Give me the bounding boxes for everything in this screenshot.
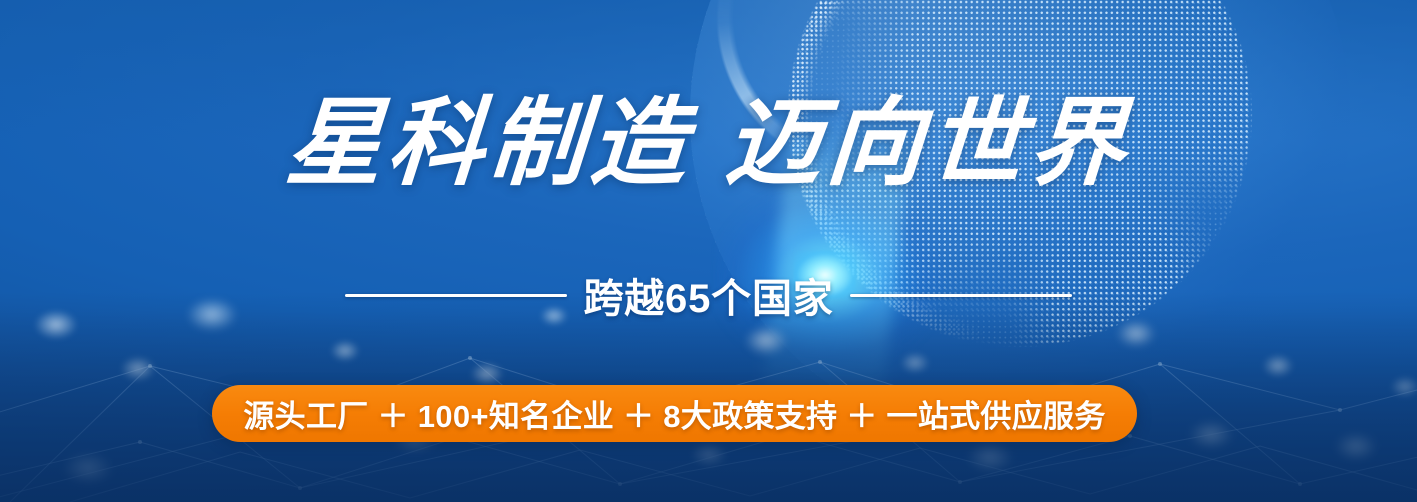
subtitle-row: 跨越65个国家 xyxy=(0,266,1417,324)
headline-part-two: 迈向世界 xyxy=(722,90,1135,197)
divider-left xyxy=(345,294,567,297)
headline-part-one: 星科制造 xyxy=(283,90,696,197)
marketing-banner: 星科制造迈向世界 跨越65个国家 源头工厂 ＋ 100+知名企业 ＋ 8大政策支… xyxy=(0,0,1417,502)
subtitle-text: 跨越65个国家 xyxy=(583,266,833,324)
headline: 星科制造迈向世界 xyxy=(0,96,1417,192)
highlights-pill-text: 源头工厂 ＋ 100+知名企业 ＋ 8大政策支持 ＋ 一站式供应服务 xyxy=(243,391,1105,436)
highlights-pill[interactable]: 源头工厂 ＋ 100+知名企业 ＋ 8大政策支持 ＋ 一站式供应服务 xyxy=(212,385,1137,442)
divider-right xyxy=(850,294,1072,297)
banner-content: 星科制造迈向世界 跨越65个国家 源头工厂 ＋ 100+知名企业 ＋ 8大政策支… xyxy=(0,0,1417,502)
